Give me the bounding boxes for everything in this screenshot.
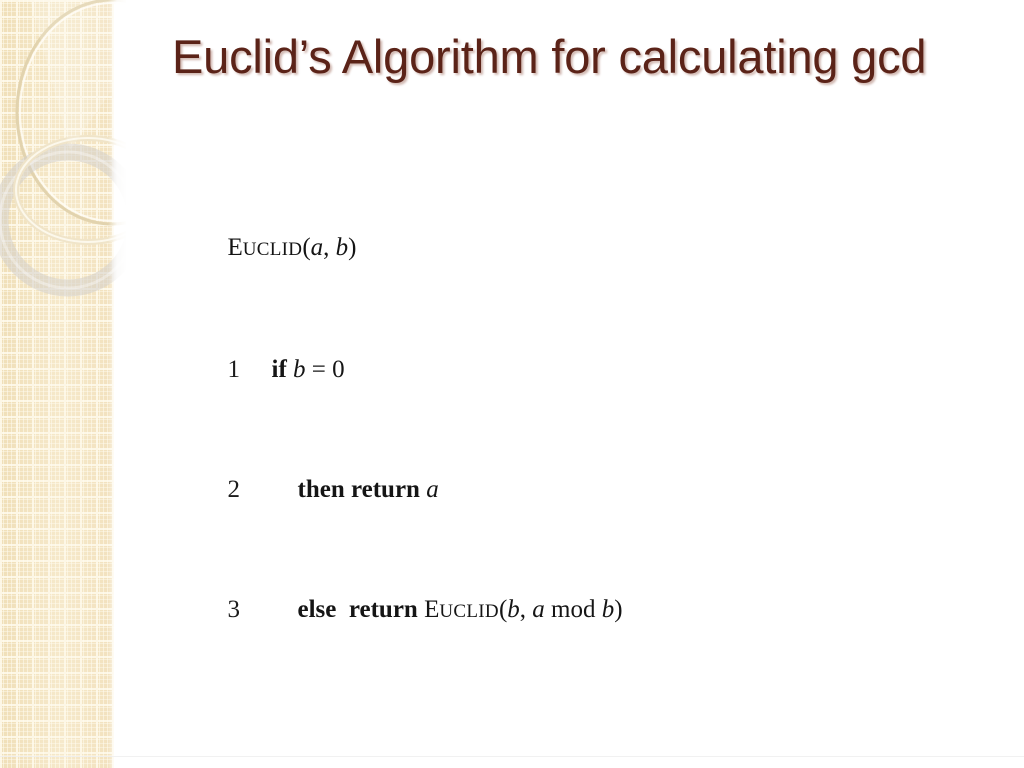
keyword-if: if [272, 356, 287, 383]
line-2-var: a [426, 476, 439, 503]
call-name-rest: UCLID [439, 601, 499, 622]
slide-title: Euclid’s Algorithm for calculating gcd [172, 26, 992, 88]
call-close-paren: ) [614, 596, 622, 623]
pseudocode-signature: EUCLID(a, b) [190, 188, 623, 310]
slide-canvas: Euclid’s Algorithm for calculating gcd E… [0, 0, 1024, 768]
line-1-operator: = [306, 356, 333, 383]
footer-divider [0, 756, 1024, 757]
pseudocode-block: EUCLID(a, b) 1if b = 0 2then return a 3e… [190, 188, 623, 672]
signature-close-paren: ) [348, 234, 356, 261]
signature-open-paren: ( [302, 234, 310, 261]
proc-name-initial: E [228, 234, 243, 261]
call-arg-a: a [532, 596, 545, 623]
pseudocode-line-1: 1if b = 0 [190, 310, 623, 430]
line-1-value: 0 [332, 356, 345, 383]
signature-comma: , [323, 234, 336, 261]
band-edge-fade [108, 0, 126, 768]
pseudocode-line-2: 2then return a [190, 430, 623, 550]
signature-arg-a: a [311, 234, 324, 261]
pseudocode-line-3: 3else return EUCLID(b, a mod b) [190, 550, 623, 672]
line-1-var: b [293, 356, 306, 383]
call-comma: , [520, 596, 533, 623]
call-arg-b: b [507, 596, 520, 623]
line-number-2: 2 [228, 470, 258, 510]
grid-pattern-fill [0, 0, 114, 768]
keyword-then-return: then return [298, 476, 420, 503]
line-number-1: 1 [228, 350, 258, 390]
call-mod-operator: mod [545, 596, 602, 623]
proc-name-rest: UCLID [243, 239, 303, 260]
line-number-3: 3 [228, 590, 258, 630]
keyword-else-return: else return [298, 596, 418, 623]
call-name-initial: E [424, 596, 439, 623]
decorative-left-band [0, 0, 126, 768]
call-arg-b2: b [602, 596, 615, 623]
signature-arg-b: b [336, 234, 349, 261]
